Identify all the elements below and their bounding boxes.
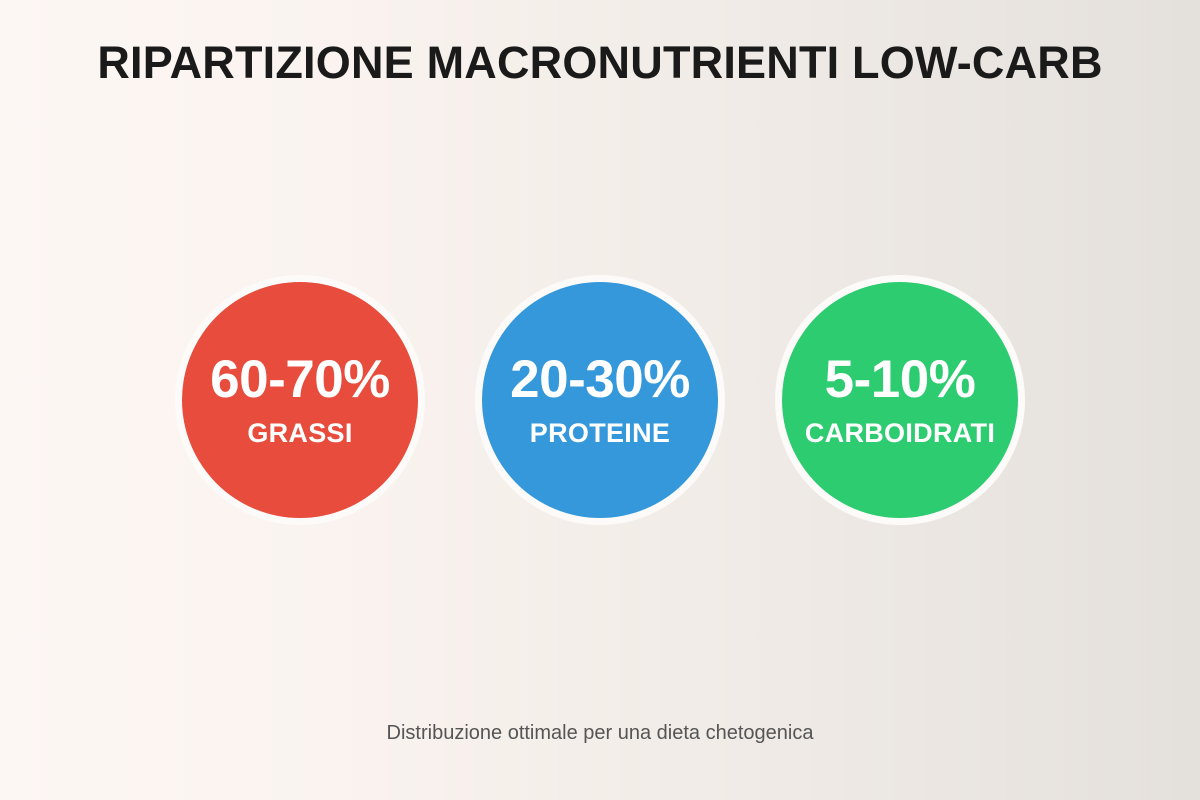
macro-label-proteine: PROTEINE bbox=[530, 420, 670, 447]
macro-label-grassi: GRASSI bbox=[247, 420, 352, 447]
macro-value-proteine: 20-30% bbox=[510, 353, 690, 406]
macro-circle-proteine: 20-30% PROTEINE bbox=[482, 282, 718, 518]
macro-text-grassi: 60-70% GRASSI bbox=[92, 282, 508, 518]
macro-circle-carboidrati: 5-10% CARBOIDRATI bbox=[782, 282, 1018, 518]
macro-value-grassi: 60-70% bbox=[210, 353, 390, 406]
macro-circle-grassi: 60-70% GRASSI bbox=[182, 282, 418, 518]
macro-label-carboidrati: CARBOIDRATI bbox=[805, 420, 995, 447]
infographic-canvas: RIPARTIZIONE MACRONUTRIENTI LOW-CARB 60-… bbox=[0, 0, 1200, 800]
page-title: RIPARTIZIONE MACRONUTRIENTI LOW-CARB bbox=[0, 38, 1200, 88]
macro-text-proteine: 20-30% PROTEINE bbox=[392, 282, 808, 518]
macro-value-carboidrati: 5-10% bbox=[825, 353, 976, 406]
macronutrient-circle-row: 60-70% GRASSI 20-30% PROTEINE 5-10% CARB… bbox=[0, 282, 1200, 518]
caption-text: Distribuzione ottimale per una dieta che… bbox=[0, 722, 1200, 745]
macro-text-carboidrati: 5-10% CARBOIDRATI bbox=[692, 282, 1108, 518]
